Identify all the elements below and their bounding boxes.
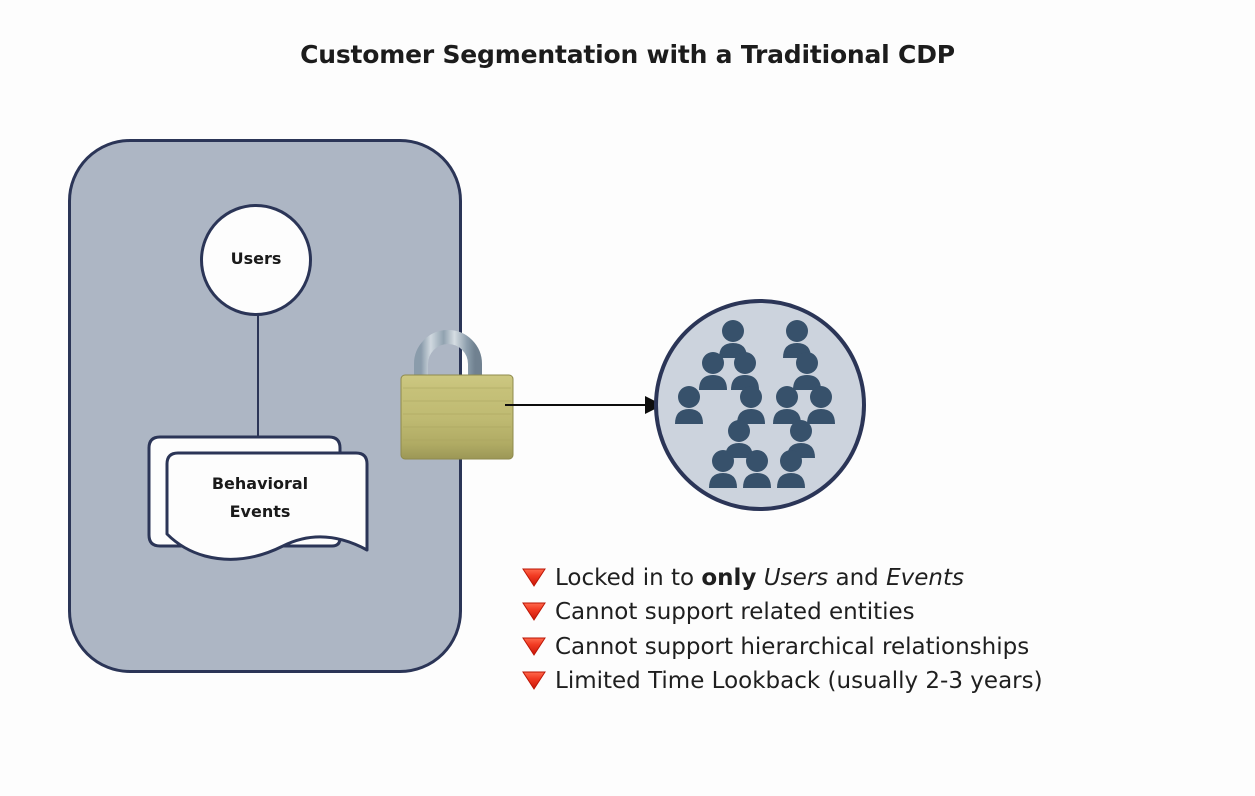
users-node: Users	[200, 204, 312, 316]
limitation-item-label: Cannot support hierarchical relationship…	[555, 633, 1029, 662]
users-node-label: Users	[231, 249, 282, 268]
limitation-item-label: Limited Time Lookback (usually 2-3 years…	[555, 667, 1043, 696]
red-down-triangle-icon	[522, 601, 546, 621]
limitation-text-part: and	[828, 565, 886, 591]
diagram-canvas: Customer Segmentation with a Traditional…	[0, 0, 1255, 796]
limitation-text-part: Locked in to	[555, 565, 701, 591]
limitation-text-part: Cannot support hierarchical relationship…	[555, 634, 1029, 660]
limitation-item-label: Locked in to only Users and Events	[555, 564, 964, 593]
limitation-text-part: Events	[886, 565, 964, 591]
page-title: Customer Segmentation with a Traditional…	[0, 40, 1255, 69]
limitation-item: Locked in to only Users and Events	[522, 564, 1122, 593]
behavioral-events-node	[143, 434, 375, 584]
limitations-list: Locked in to only Users and EventsCannot…	[522, 564, 1122, 702]
audience-segment-node	[653, 298, 867, 512]
limitation-item: Cannot support hierarchical relationship…	[522, 633, 1122, 662]
limitation-text-part: Users	[764, 565, 828, 591]
limitation-text-part: only	[701, 565, 756, 591]
red-down-triangle-icon	[522, 636, 546, 656]
limitation-item: Cannot support related entities	[522, 598, 1122, 627]
arrow-right-icon	[505, 390, 665, 420]
users-events-connector	[257, 305, 259, 450]
padlock-icon	[398, 322, 516, 464]
limitation-text-part: Limited Time Lookback (usually 2-3 years…	[555, 668, 1043, 694]
red-down-triangle-icon	[522, 567, 546, 587]
red-down-triangle-icon	[522, 670, 546, 690]
limitation-text-part: Cannot support related entities	[555, 599, 915, 625]
limitation-item-label: Cannot support related entities	[555, 598, 915, 627]
limitation-text-part	[756, 565, 763, 591]
limitation-item: Limited Time Lookback (usually 2-3 years…	[522, 667, 1122, 696]
